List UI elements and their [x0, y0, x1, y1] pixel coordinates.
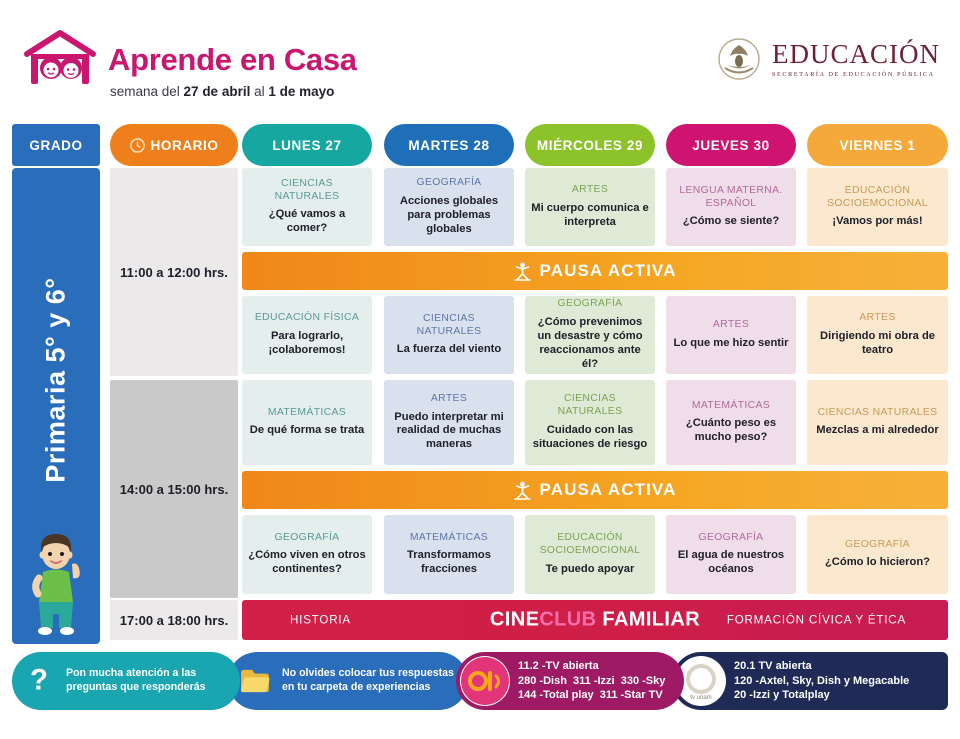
pausa-activa-bar-2: PAUSA ACTIVA [242, 471, 948, 509]
schedule-cell[interactable]: GEOGRAFÍAEl agua de nuestros océanos [666, 515, 796, 594]
week-join: al [250, 84, 268, 99]
column-header-mi-rcoles-29[interactable]: MIÉRCOLES 29 [525, 124, 655, 166]
column-header-label: LUNES 27 [272, 138, 341, 153]
cell-topic: Acciones globales para problemas globale… [390, 195, 508, 237]
schedule-cell[interactable]: CIENCIAS NATURALESMezclas a mi alrededor [807, 380, 948, 465]
cell-subject: CIENCIAS NATURALES [248, 178, 366, 203]
cell-topic: Dirigiendo mi obra de teatro [813, 330, 942, 358]
page-header: Aprende en Casa semana del 27 de abril a… [0, 0, 960, 122]
cell-topic: Te puedo apoyar [546, 563, 635, 577]
once-tv-logo [460, 656, 510, 706]
cell-subject: ARTES [713, 319, 749, 332]
time-slot-label: 17:00 a 18:00 hrs. [120, 613, 228, 628]
cell-topic: Lo que me hizo sentir [674, 337, 789, 351]
channel-listing-text: 20.1 TV abierta 120 -Axtel, Sky, Dish y … [734, 659, 909, 703]
schedule-cell[interactable]: GEOGRAFÍA¿Cómo viven en otros continente… [242, 515, 372, 594]
cell-topic: ¿Cómo prevenimos un desastre y cómo reac… [531, 316, 649, 372]
cell-subject: EDUCACIÓN SOCIOEMOCIONAL [813, 185, 942, 210]
cell-topic: Puedo interpretar mi realidad de muchas … [390, 411, 508, 453]
aprende-en-casa-schedule: Aprende en Casa semana del 27 de abril a… [0, 0, 960, 739]
cell-subject: ARTES [431, 393, 467, 406]
schedule-cell[interactable]: EDUCACIÓN SOCIOEMOCIONALTe puedo apoyar [525, 515, 655, 594]
column-header-lunes-27[interactable]: LUNES 27 [242, 124, 372, 166]
schedule-cell[interactable]: CIENCIAS NATURALESCuidado con las situac… [525, 380, 655, 465]
footer-channel-1[interactable]: 11.2 -TV abierta 280 -Dish 311 -Izzi 330… [456, 652, 684, 710]
column-header-jueves-30[interactable]: JUEVES 30 [666, 124, 796, 166]
stretching-person-icon [514, 262, 531, 281]
footer-tip-text: Pon mucha atención a las preguntas que r… [66, 667, 240, 695]
schedule-cell[interactable]: MATEMÁTICASTransformamos fracciones [384, 515, 514, 594]
schedule-cell[interactable]: ARTESLo que me hizo sentir [666, 296, 796, 374]
time-slot-label: 14:00 a 15:00 hrs. [120, 482, 228, 497]
schedule-cell[interactable]: ARTESMi cuerpo comunica e interpreta [525, 168, 655, 246]
cineclub-title-club: CLUB [539, 609, 596, 631]
cell-subject: LENGUA MATERNA. ESPAÑOL [672, 185, 790, 210]
pausa-activa-bar-1: PAUSA ACTIVA [242, 252, 948, 290]
cell-topic: La fuerza del viento [397, 343, 501, 357]
schedule-cell[interactable]: MATEMÁTICAS¿Cuánto peso es mucho peso? [666, 380, 796, 465]
schedule-cell[interactable]: GEOGRAFÍA¿Cómo prevenimos un desastre y … [525, 296, 655, 374]
cell-subject: GEOGRAFÍA [417, 177, 482, 190]
cineclub-title-cine: CINE [490, 609, 539, 631]
schedule-cell[interactable]: LENGUA MATERNA. ESPAÑOL¿Cómo se siente? [666, 168, 796, 246]
cell-topic: ¿Cómo se siente? [683, 215, 779, 229]
cell-subject: MATEMÁTICAS [268, 407, 346, 420]
channel-listing-text: 11.2 -TV abierta 280 -Dish 311 -Izzi 330… [518, 659, 665, 703]
mexican-coat-of-arms-icon [716, 36, 762, 82]
cell-subject: EDUCACIÓN SOCIOEMOCIONAL [531, 532, 649, 557]
sep-logo: EDUCACIÓN SECRETARÍA DE EDUCACIÓN PÚBLIC… [716, 30, 940, 88]
cell-subject: ARTES [572, 184, 608, 197]
cineclub-right-subject: FORMACIÓN CÍVICA Y ÉTICA [727, 614, 906, 627]
column-header-horario[interactable]: HORARIO [110, 124, 238, 166]
boy-character-icon [18, 518, 94, 638]
schedule-cell[interactable]: GEOGRAFÍA¿Cómo lo hicieron? [807, 515, 948, 594]
schedule-cell[interactable]: MATEMÁTICASDe qué forma se trata [242, 380, 372, 465]
cineclub-title: CINECLUB FAMILIAR [490, 609, 700, 632]
time-slot-3: 17:00 a 18:00 hrs. [110, 600, 238, 640]
schedule-cell[interactable]: ARTESDirigiendo mi obra de teatro [807, 296, 948, 374]
page-title: Aprende en Casa [108, 42, 357, 78]
footer-tip-text: No olvides colocar tus respuestas en tu … [282, 667, 468, 695]
cell-topic: ¿Cómo viven en otros continentes? [248, 549, 366, 577]
cell-subject: MATEMÁTICAS [410, 532, 488, 545]
schedule-cell[interactable]: EDUCACIÓN SOCIOEMOCIONAL¡Vamos por más! [807, 168, 948, 246]
sep-caption: SECRETARÍA DE EDUCACIÓN PÚBLICA [772, 71, 940, 78]
house-with-children-icon [22, 30, 98, 88]
cell-topic: Cuidado con las situaciones de riesgo [531, 424, 649, 452]
page-footer: ?Pon mucha atención a las preguntas que … [0, 650, 960, 718]
grade-label: Primaria 5° y 6° [41, 277, 72, 482]
clock-icon [130, 138, 145, 153]
week-end: 1 de mayo [268, 84, 334, 99]
column-header-label: VIERNES 1 [840, 138, 916, 153]
week-prefix: semana del [110, 84, 184, 99]
column-header-label: MIÉRCOLES 29 [537, 138, 643, 153]
time-slot-1: 11:00 a 12:00 hrs. [110, 168, 238, 376]
cell-subject: EDUCACIÓN FÍSICA [255, 312, 359, 325]
cell-topic: ¿Qué vamos a comer? [248, 208, 366, 236]
schedule-cell[interactable]: GEOGRAFÍAAcciones globales para problema… [384, 168, 514, 246]
column-header-martes-28[interactable]: MARTES 28 [384, 124, 514, 166]
svg-text:?: ? [30, 665, 48, 697]
cell-topic: ¿Cómo lo hicieron? [825, 556, 930, 570]
question-mark-icon: ? [12, 665, 66, 697]
schedule-cell[interactable]: CIENCIAS NATURALESLa fuerza del viento [384, 296, 514, 374]
cell-subject: GEOGRAFÍA [845, 539, 910, 552]
column-header-grado[interactable]: GRADO [12, 124, 100, 166]
cell-subject: CIENCIAS NATURALES [390, 313, 508, 338]
cell-topic: De qué forma se trata [250, 424, 364, 438]
footer-tip-1[interactable]: ?Pon mucha atención a las preguntas que … [12, 652, 240, 710]
schedule-cell[interactable]: CIENCIAS NATURALES¿Qué vamos a comer? [242, 168, 372, 246]
svg-text:tv unam: tv unam [690, 695, 711, 701]
cell-subject: MATEMÁTICAS [692, 400, 770, 413]
cell-topic: ¡Vamos por más! [832, 215, 922, 229]
cell-topic: Mi cuerpo comunica e interpreta [531, 202, 649, 230]
cineclub-title-familiar: FAMILIAR [596, 609, 700, 631]
schedule-cell[interactable]: EDUCACIÓN FÍSICAPara lograrlo, ¡colabore… [242, 296, 372, 374]
footer-tip-2[interactable]: No olvides colocar tus respuestas en tu … [228, 652, 468, 710]
time-slot-label: 11:00 a 12:00 hrs. [120, 265, 228, 280]
pausa-activa-label-1: PAUSA ACTIVA [540, 261, 677, 281]
stretching-person-icon [514, 481, 531, 500]
cell-subject: ARTES [859, 312, 895, 325]
cell-topic: Transformamos fracciones [390, 549, 508, 577]
schedule-cell[interactable]: ARTESPuedo interpretar mi realidad de mu… [384, 380, 514, 465]
column-header-label: GRADO [29, 138, 82, 153]
cell-topic: Para lograrlo, ¡colaboremos! [248, 330, 366, 358]
cell-topic: El agua de nuestros océanos [672, 549, 790, 577]
cineclub-left-subject: HISTORIA [290, 614, 351, 627]
column-header-label: MARTES 28 [408, 138, 489, 153]
week-range: semana del 27 de abril al 1 de mayo [110, 84, 334, 99]
time-slot-2: 14:00 a 15:00 hrs. [110, 380, 238, 598]
pausa-activa-label-2: PAUSA ACTIVA [540, 480, 677, 500]
week-start: 27 de abril [184, 84, 251, 99]
cell-subject: GEOGRAFÍA [558, 298, 623, 311]
column-header-label: JUEVES 30 [692, 138, 769, 153]
footer-channel-2[interactable]: tv unam20.1 TV abierta 120 -Axtel, Sky, … [672, 652, 948, 710]
cell-subject: CIENCIAS NATURALES [531, 393, 649, 418]
sep-title: EDUCACIÓN [772, 41, 940, 68]
cell-topic: Mezclas a mi alrededor [816, 424, 939, 438]
cell-topic: ¿Cuánto peso es mucho peso? [672, 417, 790, 445]
column-header-label: HORARIO [151, 138, 219, 153]
column-header-row: GRADOHORARIOLUNES 27MARTES 28MIÉRCOLES 2… [0, 124, 960, 168]
cineclub-bar: HISTORIA CINECLUB FAMILIAR FORMACIÓN CÍV… [242, 600, 948, 640]
cell-subject: GEOGRAFÍA [275, 532, 340, 545]
column-header-viernes-1[interactable]: VIERNES 1 [807, 124, 948, 166]
cell-subject: CIENCIAS NATURALES [818, 407, 938, 420]
grade-band: Primaria 5° y 6° [12, 168, 100, 644]
cell-subject: GEOGRAFÍA [699, 532, 764, 545]
schedule-grid: Primaria 5° y 6° 11:00 a 12:00 hrs.14:00… [0, 168, 960, 644]
